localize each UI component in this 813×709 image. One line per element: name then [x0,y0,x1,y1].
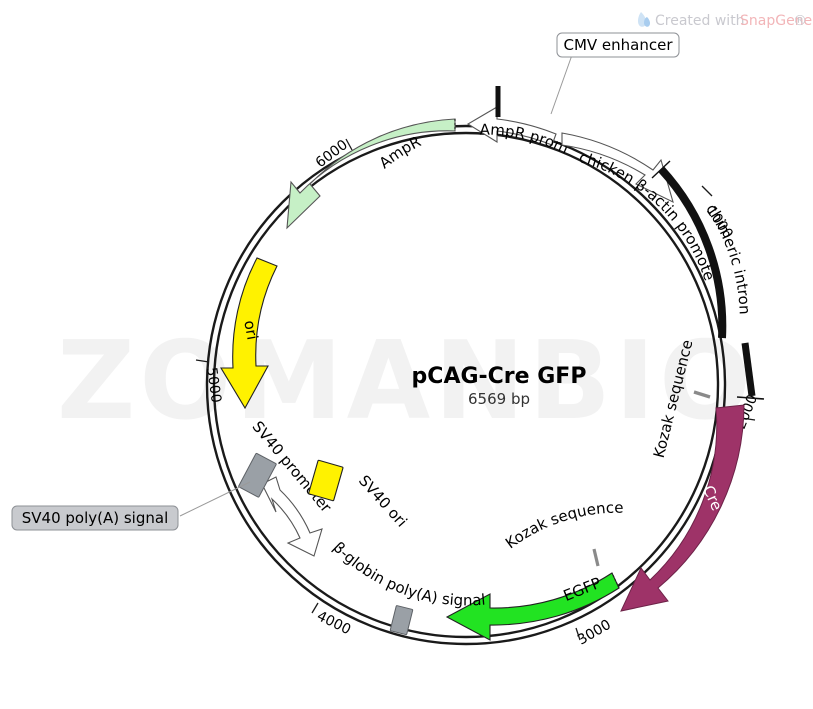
beta-globin-polya-label: β-globin poly(A) signal [329,538,486,609]
sv40-ori-box[interactable] [309,460,344,501]
tick-label-3000: 3000 [575,617,614,649]
tick-label-4000: 4000 [314,608,353,638]
plasmid-size: 6569 bp [468,390,530,408]
kozak-sequence-2-label: Kozak sequence [502,499,624,553]
feature-kozak-sequence-2[interactable]: Kozak sequence [502,499,624,566]
watermark: ZOMANBIO [57,319,755,444]
tick-3000: 3000 [575,617,614,649]
feature-ampr-promoter[interactable]: AmpR promoter [0,0,571,158]
attribution-suffix: ® [793,13,807,29]
ampr-promoter-label: AmpR promoter [0,0,571,158]
plasmid-map-canvas: ZOMANBIO Created with SnapGene ® 1000 [0,0,813,709]
sv40-polya-callout-label: SV40 poly(A) signal [22,509,168,527]
snapgene-droplet-icon [638,12,650,27]
feature-sv40-ori[interactable]: SV40 ori [309,460,411,531]
feature-cmv-enhancer[interactable]: CMV enhancer [551,33,679,114]
kozak-sequence-2-tick[interactable] [594,549,598,566]
snapgene-attribution: Created with SnapGene ® [638,12,812,29]
cmv-enhancer-callout-label: CMV enhancer [563,36,673,54]
cmv-enhancer-leader-line [551,55,572,114]
sv40-polya-callout[interactable]: SV40 poly(A) signal [12,506,178,530]
ori-label: ori [240,319,261,341]
attribution-prefix: Created with [655,13,745,29]
cmv-enhancer-callout[interactable]: CMV enhancer [557,33,679,57]
sv40-ori-label: SV40 ori [355,472,411,531]
plasmid-name: pCAG-Cre GFP [412,364,587,389]
watermark-label: ZOMANBIO [57,319,755,444]
